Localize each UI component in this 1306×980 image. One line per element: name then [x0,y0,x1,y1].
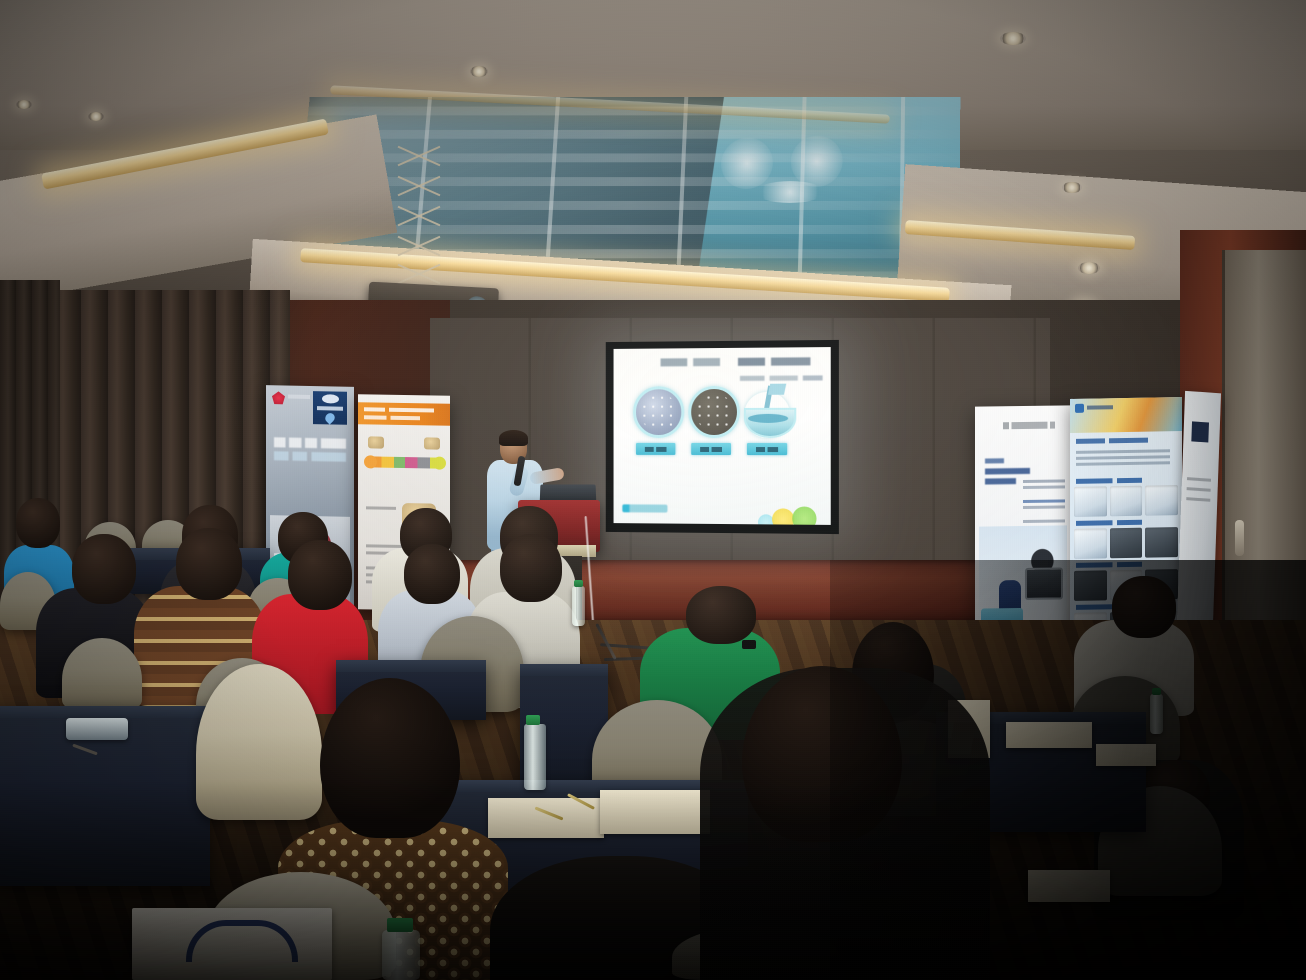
attendee-head [500,534,562,602]
catalog-header-graphic [1070,397,1182,433]
banner-monitor-image [1025,567,1063,600]
recessed-downlight [16,100,32,109]
catalog-section-head-3 [1076,562,1142,568]
catalog-paragraph [1076,449,1170,473]
attendee-head [404,544,460,604]
sartorius-brand-logo [1003,422,1055,430]
catalog-section-head-2 [1076,520,1142,526]
recessed-downlight [1078,262,1100,274]
glass-tray[interactable] [66,718,128,740]
projector-scissor-lift [396,155,440,295]
recessed-downlight [88,112,104,121]
slide-footer-logo [622,504,667,512]
slide-subtitle-text [740,375,823,380]
water-bottle[interactable] [572,586,585,626]
attendee-head [176,528,242,600]
attendee-head [16,498,60,548]
slide-culture-dish-2 [688,386,740,438]
slide-corner-circle-yellow [772,508,794,525]
banner-thumb-right [424,437,440,449]
slide-dish-caption-2 [691,443,731,455]
banner-sartorius-bullets [1023,479,1065,526]
leaning-banner-graphic [1191,421,1209,442]
banner-pipeline-node-end [433,457,446,470]
slide-dish-caption-1 [636,443,675,455]
recessed-downlight [470,66,488,77]
water-bottle[interactable] [524,724,546,790]
slide-dish-flag [768,384,786,395]
brochure[interactable] [1028,870,1110,902]
slide-dish-caption-3 [747,443,787,455]
attendee-head [288,540,352,610]
slide-culture-dish-3 [744,392,790,438]
water-bottle[interactable] [382,930,420,980]
slide-corner-circle-green [792,506,816,524]
attendee-head [72,534,136,604]
presenter-hair [499,430,528,446]
projection-screen-frame [606,340,839,534]
recessed-downlight [1000,32,1026,45]
catalog-section-head-1 [1076,478,1142,484]
banner-brand-text [288,395,310,399]
attendee-phone[interactable] [742,640,756,649]
attendee-head [1112,576,1176,638]
projection-screen-surface [614,347,831,525]
catalog-headline [1076,438,1148,444]
door-handle[interactable] [1235,520,1244,556]
conference-room-photo [0,0,1306,980]
slide-title-text [661,357,811,366]
slide-culture-dish-1 [633,386,684,438]
banner-headline-text [274,437,346,469]
catalog-brand-text [1087,405,1113,409]
banner-orange-header [358,402,450,426]
attendee-head [686,586,756,644]
blue-box-logo-icon [313,391,347,425]
recessed-downlight [1062,182,1082,193]
banner-pipeline-node-start [364,455,377,468]
water-bottle[interactable] [1150,694,1163,734]
catalog-logo-icon [1075,404,1084,413]
red-pentagon-logo-icon [272,391,285,404]
ceiling-fixture-reflection [755,181,826,203]
catalog-row [1074,527,1178,559]
brochure[interactable] [1006,722,1092,748]
notepad[interactable] [600,790,710,834]
brochure[interactable] [1096,744,1156,766]
slide-dish-lid [748,414,788,423]
banner-thumb-left [368,436,384,448]
catalog-row [1074,485,1178,517]
